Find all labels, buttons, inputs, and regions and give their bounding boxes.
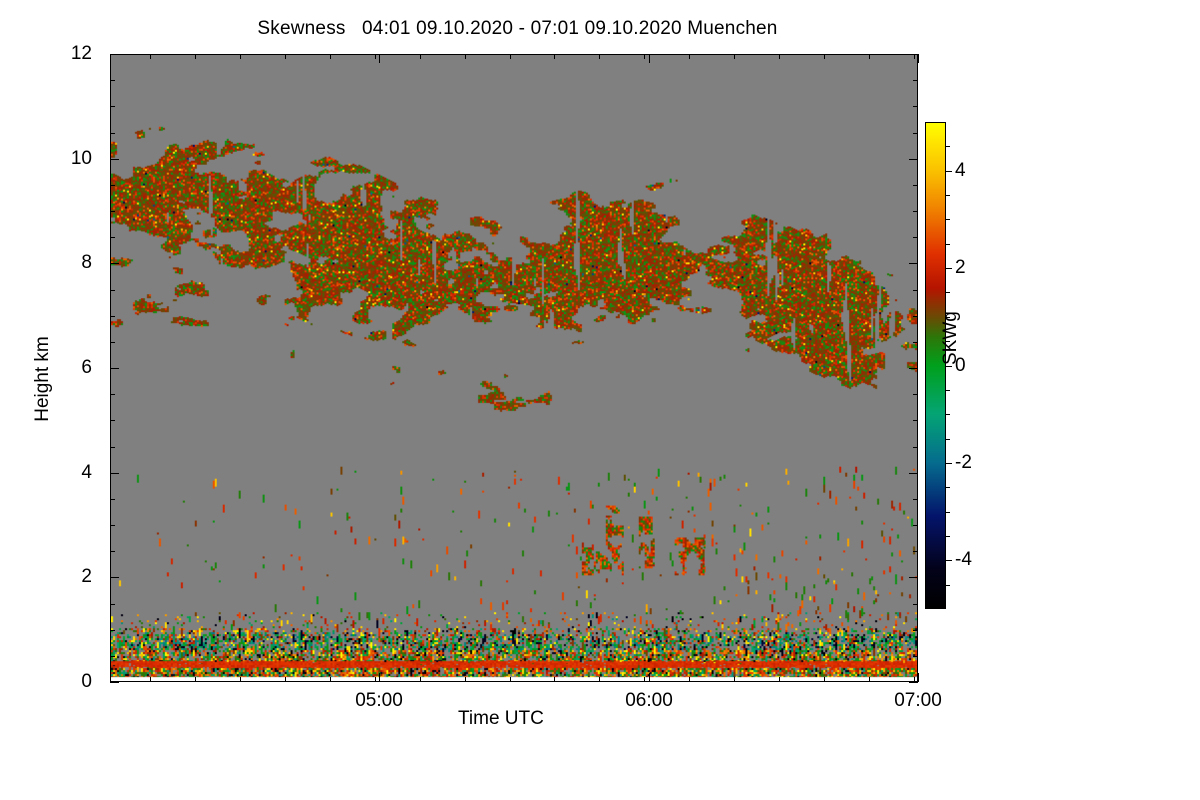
y-axis-tick (110, 54, 119, 55)
x-axis-minor-tick (869, 677, 870, 682)
x-axis-tick (649, 673, 650, 682)
y-axis-tick-label: 10 (32, 148, 92, 170)
y-axis-tick-right (909, 577, 918, 578)
colorbar-minor-tick (946, 536, 950, 537)
y-axis-minor-tick-right (913, 499, 918, 500)
y-axis-minor-tick (110, 290, 115, 291)
y-axis-minor-tick (110, 211, 115, 212)
y-axis-minor-tick-right (913, 133, 918, 134)
colorbar-tick-label: 0 (955, 355, 966, 377)
x-axis-minor-tick-top (734, 54, 735, 59)
y-axis-minor-tick (110, 316, 115, 317)
y-axis-tick (110, 473, 119, 474)
x-axis-tick-top (649, 54, 650, 63)
colorbar[interactable] (925, 122, 946, 609)
x-axis-minor-tick (599, 677, 600, 682)
y-axis-minor-tick (110, 630, 115, 631)
y-axis-tick (110, 368, 119, 369)
x-axis-minor-tick (510, 677, 511, 682)
x-axis-minor-tick (420, 677, 421, 682)
heatmap-data-canvas (111, 55, 917, 681)
x-axis-minor-tick-top (554, 54, 555, 59)
x-axis-tick-label: 06:00 (589, 690, 709, 712)
y-axis-tick-right (909, 159, 918, 160)
colorbar-minor-tick (946, 390, 950, 391)
colorbar-minor-tick (946, 195, 950, 196)
x-axis-minor-tick (285, 677, 286, 682)
y-axis-tick-right (909, 682, 918, 683)
colorbar-tick (946, 366, 952, 367)
colorbar-minor-tick (946, 512, 950, 513)
y-axis-minor-tick (110, 551, 115, 552)
x-axis-minor-tick (150, 677, 151, 682)
x-axis-label: Time UTC (458, 708, 544, 730)
y-axis-minor-tick (110, 525, 115, 526)
colorbar-tick-label: 2 (955, 257, 966, 279)
x-axis-minor-tick-top (150, 54, 151, 59)
y-axis-minor-tick-right (913, 316, 918, 317)
colorbar-minor-tick (946, 219, 950, 220)
x-axis-minor-tick-top (465, 54, 466, 59)
y-axis-minor-tick-right (913, 237, 918, 238)
x-axis-minor-tick-top (420, 54, 421, 59)
y-axis-minor-tick-right (913, 342, 918, 343)
x-axis-minor-tick (914, 677, 915, 682)
y-axis-tick-label: 8 (32, 252, 92, 274)
colorbar-tick-label: -2 (955, 452, 972, 474)
x-axis-minor-tick (824, 677, 825, 682)
y-axis-tick-right (909, 473, 918, 474)
y-axis-minor-tick (110, 394, 115, 395)
y-axis-minor-tick-right (913, 394, 918, 395)
x-axis-minor-tick (734, 677, 735, 682)
x-axis-minor-tick-top (240, 54, 241, 59)
x-axis-minor-tick-top (914, 54, 915, 59)
x-axis-minor-tick (375, 677, 376, 682)
y-axis-minor-tick-right (913, 525, 918, 526)
y-axis-minor-tick-right (913, 656, 918, 657)
x-axis-minor-tick (330, 677, 331, 682)
y-axis-minor-tick (110, 80, 115, 81)
y-axis-tick-label: 0 (32, 671, 92, 693)
y-axis-minor-tick (110, 499, 115, 500)
page-title: Skewness 04:01 09.10.2020 - 07:01 09.10.… (0, 18, 1035, 40)
y-axis-tick-label: 12 (32, 43, 92, 65)
y-axis-tick-label: 2 (32, 566, 92, 588)
y-axis-minor-tick (110, 656, 115, 657)
x-axis-minor-tick-top (689, 54, 690, 59)
colorbar-tick-label: 4 (955, 160, 966, 182)
x-axis-tick-label: 07:00 (858, 690, 978, 712)
x-axis-minor-tick-top (510, 54, 511, 59)
y-axis-minor-tick (110, 420, 115, 421)
colorbar-tick (946, 171, 952, 172)
y-axis-tick-label: 4 (32, 462, 92, 484)
y-axis-minor-tick-right (913, 447, 918, 448)
y-axis-tick-label: 6 (32, 357, 92, 379)
y-axis-label: Height km (32, 319, 54, 439)
colorbar-tick-label: -4 (955, 549, 972, 571)
x-axis-tick (379, 673, 380, 682)
x-axis-minor-tick-top (285, 54, 286, 59)
y-axis-tick (110, 159, 119, 160)
x-axis-tick-top (379, 54, 380, 63)
heatmap-plot-area[interactable] (110, 54, 918, 682)
y-axis-tick (110, 577, 119, 578)
colorbar-tick (946, 463, 952, 464)
colorbar-tick (946, 560, 952, 561)
y-axis-minor-tick-right (913, 630, 918, 631)
figure-canvas: Skewness 04:01 09.10.2020 - 07:01 09.10.… (0, 0, 1200, 800)
colorbar-minor-tick (946, 244, 950, 245)
y-axis-tick-right (909, 368, 918, 369)
colorbar-minor-tick (946, 439, 950, 440)
x-axis-tick (918, 673, 919, 682)
x-axis-tick-label: 05:00 (319, 690, 439, 712)
x-axis-minor-tick (240, 677, 241, 682)
x-axis-minor-tick-top (195, 54, 196, 59)
y-axis-minor-tick (110, 447, 115, 448)
y-axis-minor-tick-right (913, 604, 918, 605)
y-axis-minor-tick (110, 237, 115, 238)
colorbar-minor-tick (946, 292, 950, 293)
y-axis-minor-tick-right (913, 185, 918, 186)
y-axis-minor-tick-right (913, 290, 918, 291)
y-axis-minor-tick (110, 133, 115, 134)
y-axis-minor-tick (110, 604, 115, 605)
x-axis-minor-tick-top (375, 54, 376, 59)
x-axis-minor-tick-top (869, 54, 870, 59)
y-axis-tick (110, 682, 119, 683)
x-axis-minor-tick-top (599, 54, 600, 59)
x-axis-minor-tick (779, 677, 780, 682)
x-axis-minor-tick (195, 677, 196, 682)
x-axis-minor-tick (465, 677, 466, 682)
y-axis-minor-tick (110, 342, 115, 343)
y-axis-tick-right (909, 263, 918, 264)
y-axis-minor-tick (110, 185, 115, 186)
x-axis-minor-tick (689, 677, 690, 682)
colorbar-minor-tick (946, 317, 950, 318)
colorbar-minor-tick (946, 585, 950, 586)
colorbar-minor-tick (946, 487, 950, 488)
x-axis-tick-top (918, 54, 919, 63)
y-axis-minor-tick-right (913, 551, 918, 552)
x-axis-minor-tick (554, 677, 555, 682)
y-axis-minor-tick (110, 106, 115, 107)
y-axis-minor-tick-right (913, 106, 918, 107)
colorbar-gradient (925, 122, 946, 609)
x-axis-minor-tick-top (644, 54, 645, 59)
colorbar-tick (946, 268, 952, 269)
x-axis-minor-tick-top (824, 54, 825, 59)
colorbar-minor-tick (946, 341, 950, 342)
x-axis-minor-tick-top (779, 54, 780, 59)
x-axis-minor-tick-top (330, 54, 331, 59)
colorbar-minor-tick (946, 146, 950, 147)
colorbar-minor-tick (946, 414, 950, 415)
y-axis-minor-tick-right (913, 420, 918, 421)
y-axis-tick (110, 263, 119, 264)
y-axis-minor-tick-right (913, 80, 918, 81)
x-axis-minor-tick (644, 677, 645, 682)
y-axis-minor-tick-right (913, 211, 918, 212)
